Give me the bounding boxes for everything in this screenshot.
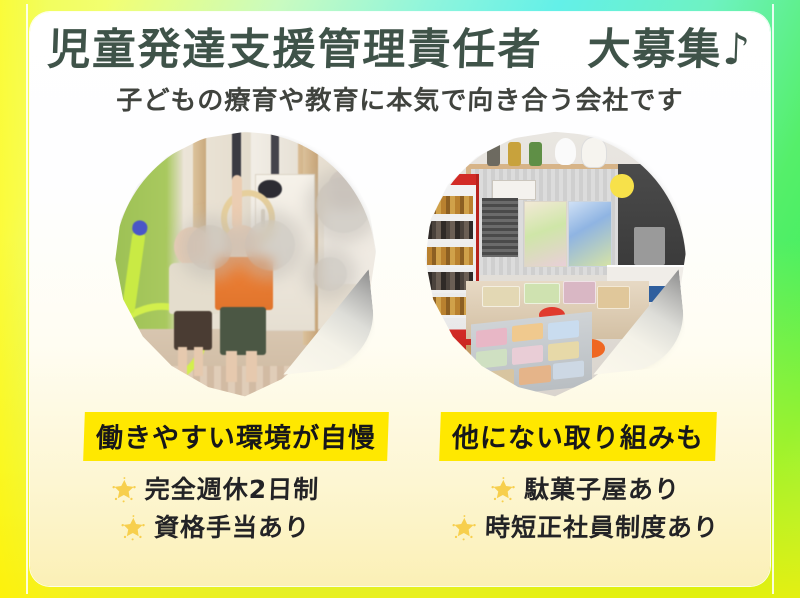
- drink-row: [427, 196, 473, 217]
- candy-cell: [483, 369, 514, 389]
- child-leg: [178, 347, 187, 377]
- candy-box: [482, 286, 521, 307]
- photo-illustration-shop: [424, 132, 686, 398]
- page-subtitle: 子どもの療育や教育に本気で向き合う会社です: [30, 73, 770, 116]
- shelf-figurine: [508, 142, 521, 166]
- star-icon: [451, 516, 478, 542]
- lucky-cat-figure: [581, 137, 607, 168]
- drink-row: [427, 221, 473, 242]
- benefit-column-right: 駄菓子屋あり 時短正社員制度あり: [420, 471, 750, 549]
- highlight-heading-left: 働きやすい環境が自慢: [83, 412, 389, 461]
- photo-card-left: [114, 132, 376, 398]
- child-arm-raised: [232, 175, 242, 228]
- page-title: 児童発達支援管理責任者 大募集♪: [30, 12, 770, 73]
- photo-therapy-room: [114, 132, 376, 398]
- child-shirt: [169, 263, 220, 314]
- star-icon: [490, 477, 517, 503]
- face-blur-mask: [187, 225, 232, 270]
- candy-cell: [553, 360, 584, 380]
- candy-cell: [519, 365, 550, 385]
- star-icon: [120, 516, 147, 542]
- ring-strap: [271, 132, 279, 175]
- toy-display-board: [568, 201, 612, 267]
- shelf-figurine: [529, 142, 542, 166]
- child-shorts: [174, 311, 212, 350]
- poster-card: 児童発達支援管理責任者 大募集♪ 子どもの療育や教育に本気で向き合う会社です: [30, 12, 770, 586]
- smiley-face-sticker: [610, 174, 634, 198]
- benefit-item: 完全週休2日制: [49, 471, 380, 510]
- pegboard-snacks: [482, 198, 519, 257]
- candy-box: [563, 281, 596, 304]
- benefit-item: 時短正社員制度あり: [419, 509, 750, 548]
- benefit-item: 駄菓子屋あり: [419, 471, 750, 510]
- benefit-item: 資格手当あり: [49, 509, 380, 548]
- child-leg: [246, 351, 257, 381]
- highlight-heading-row: 働きやすい環境が自慢 他にない取り組みも: [30, 412, 770, 461]
- face-blur-mask: [316, 177, 371, 233]
- child-leg: [194, 347, 203, 377]
- candy-cell: [548, 341, 579, 361]
- poster-root: 児童発達支援管理責任者 大募集♪ 子どもの療育や教育に本気で向き合う会社です: [0, 0, 800, 598]
- toy-display-board: [524, 201, 568, 267]
- face-blur-mask: [245, 220, 295, 271]
- candy-box: [524, 283, 560, 304]
- photo-row: [30, 132, 770, 398]
- coffee-machine: [634, 227, 665, 264]
- benefit-column-left: 完全週休2日制 資格手当あり: [50, 471, 380, 549]
- benefit-label: 完全週休2日制: [144, 471, 320, 510]
- highlight-heading-right: 他にない取り組みも: [439, 412, 717, 461]
- candy-crate: [471, 312, 592, 398]
- star-icon: [110, 477, 137, 503]
- green-play-stick: [122, 232, 146, 313]
- photo-illustration-room: [114, 132, 376, 398]
- candy-cell: [512, 345, 543, 365]
- benefit-label: 時短正社員制度あり: [484, 509, 719, 548]
- candy-box: [597, 286, 630, 309]
- photo-card-right: [424, 132, 686, 398]
- candy-cell: [476, 328, 507, 348]
- drink-row: [427, 247, 473, 268]
- photo-candy-shop: [424, 132, 686, 398]
- shelf-figurine: [487, 142, 500, 166]
- benefit-label: 駄菓子屋あり: [523, 471, 680, 510]
- benefit-label: 資格手当あり: [153, 509, 310, 548]
- child-leg: [226, 351, 237, 381]
- child-shorts: [220, 307, 267, 355]
- candy-cell: [548, 320, 579, 340]
- shelf-bear-figure: [555, 138, 576, 165]
- benefit-columns: 完全週休2日制 資格手当あり: [30, 471, 770, 549]
- shop-name-sign: [492, 180, 536, 201]
- candy-cell: [512, 323, 543, 343]
- candy-cell: [476, 349, 507, 369]
